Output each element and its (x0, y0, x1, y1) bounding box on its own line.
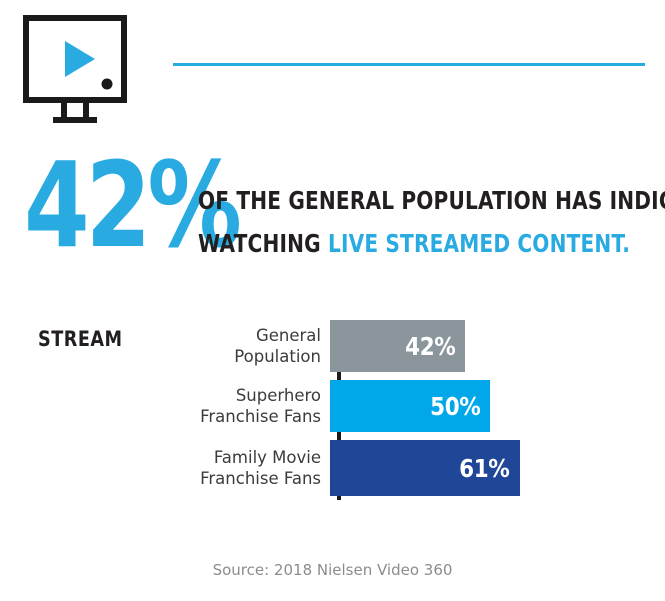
bar-category-label: General Population (170, 320, 330, 372)
headline-block: 42% OF THE GENERAL POPULATION HAS INDICA… (0, 152, 665, 282)
source-note: Source: 2018 Nielsen Video 360 (0, 560, 665, 580)
bar-category-label: Family Movie Franchise Fans (170, 440, 330, 496)
bar-track: 61% (330, 440, 590, 496)
header-row (0, 0, 665, 140)
bar-general-population: 42% (330, 320, 465, 372)
chart-title: STREAM (38, 329, 123, 350)
bar-category-label-line: General (170, 325, 321, 346)
header-divider-rule (173, 63, 645, 66)
headline-text: OF THE GENERAL POPULATION HAS INDICATED … (198, 188, 658, 256)
video-monitor-play-icon (22, 14, 128, 124)
bar-category-label-line: Superhero (170, 385, 321, 406)
stream-bar-chart: STREAM General Population 42% Superhero … (0, 312, 665, 522)
bar-family-movie-franchise-fans: 61% (330, 440, 520, 496)
bar-value-label: 50% (430, 394, 480, 419)
bar-track: 42% (330, 320, 590, 372)
bar-category-label: Superhero Franchise Fans (170, 380, 330, 432)
headline-line-2: WATCHING LIVE STREAMED CONTENT. (198, 231, 568, 256)
bar-superhero-franchise-fans: 50% (330, 380, 490, 432)
bar-track: 50% (330, 380, 590, 432)
table-row: Family Movie Franchise Fans 61% (170, 440, 590, 496)
headline-line-1: OF THE GENERAL POPULATION HAS INDICATED (198, 188, 568, 213)
bar-value-label: 42% (405, 334, 455, 359)
table-row: Superhero Franchise Fans 50% (170, 380, 590, 432)
bar-category-label-line: Franchise Fans (170, 406, 321, 427)
bar-value-label: 61% (460, 456, 510, 481)
headline-line-2-prefix: WATCHING (198, 229, 328, 258)
table-row: General Population 42% (170, 320, 590, 372)
headline-line-2-accent: LIVE STREAMED CONTENT. (328, 229, 630, 258)
bar-category-label-line: Family Movie (170, 447, 321, 468)
bar-category-label-line: Franchise Fans (170, 468, 321, 489)
bar-category-label-line: Population (170, 346, 321, 367)
chart-plot-area: General Population 42% Superhero Franchi… (170, 312, 590, 512)
